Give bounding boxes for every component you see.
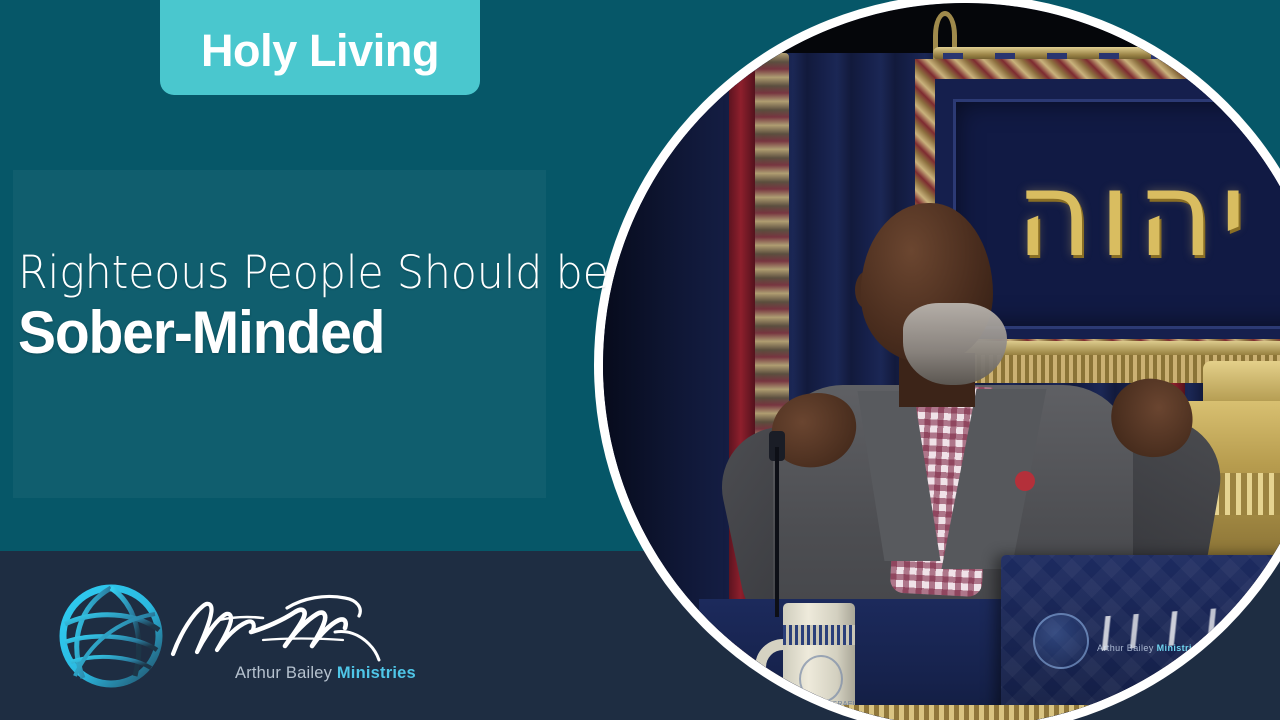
stage-scene: יהוה [603, 3, 1280, 720]
stein-menorah-emblem-icon [799, 655, 843, 703]
category-badge-label: Holy Living [201, 28, 439, 73]
globe-icon [55, 580, 167, 692]
table-gold-trim [699, 705, 1280, 720]
speaker-photo-circle: יהוה [594, 0, 1280, 720]
podium-brand-name: Arthur Bailey [1097, 643, 1154, 653]
speaker-lapel-pin [1015, 471, 1035, 491]
headline-line-1: Righteous People Should be [18, 248, 569, 298]
brand-name-text: Arthur Bailey [235, 664, 332, 682]
brand-lockup-text: Arthur Bailey Ministries [235, 664, 416, 683]
brand-word-text: Ministries [337, 664, 416, 682]
headline-block: Righteous People Should be Sober-Minded [18, 248, 598, 369]
podium-globe-icon [1033, 613, 1089, 669]
speaker-beard [903, 303, 1007, 385]
video-thumbnail: יהוה [0, 0, 1280, 720]
arthur-bailey-signature-icon [167, 588, 385, 666]
headline-line-2: Sober-Minded [18, 298, 569, 369]
podium-brand-text: Arthur Bailey Ministries [1097, 643, 1203, 653]
ministry-logo[interactable]: Arthur Bailey Ministries [55, 572, 385, 697]
microphone-stand [775, 447, 779, 617]
speaker-photo-image: יהוה [603, 3, 1280, 720]
stein-band-top [783, 625, 855, 645]
podium-brand-word: Ministries [1157, 643, 1203, 653]
category-badge[interactable]: Holy Living [160, 0, 480, 95]
